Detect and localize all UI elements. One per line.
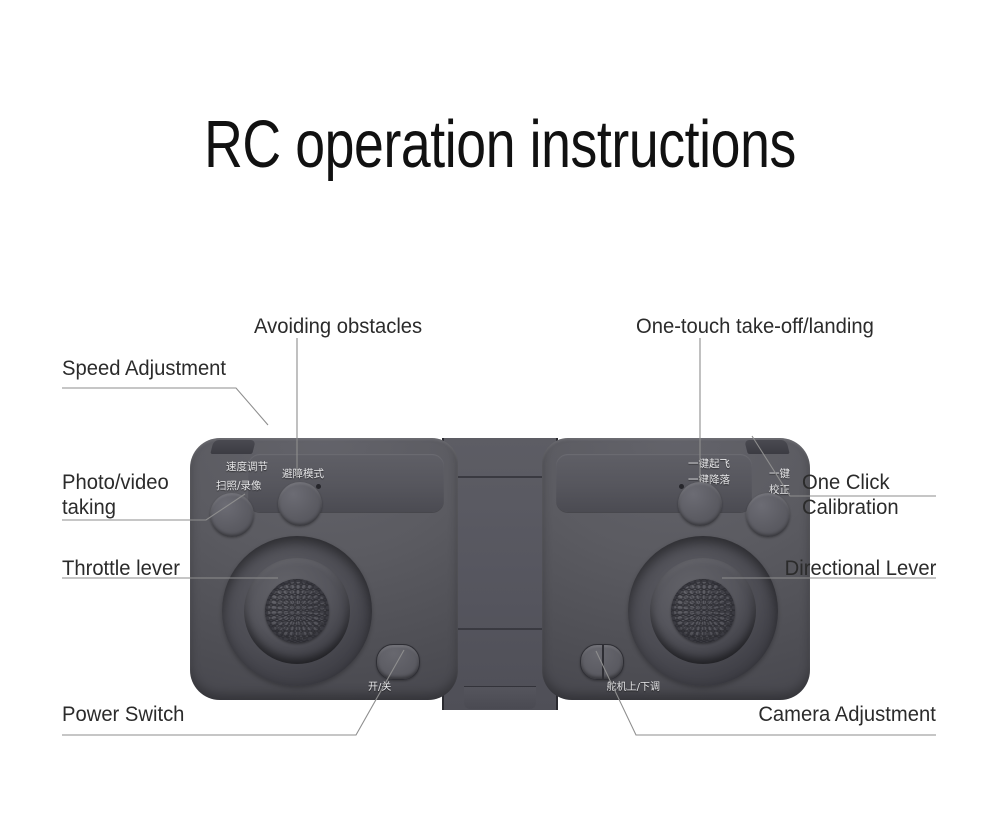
callout-one-click-calibration-line1: One Click	[802, 470, 943, 495]
callout-photo-video-taking: Photo/video taking	[62, 470, 212, 520]
callout-one-touch-take-off-landing: One-touch take-off/landing	[636, 314, 874, 339]
callout-avoiding-obstacles: Avoiding obstacles	[254, 314, 422, 339]
callout-power-switch: Power Switch	[62, 702, 184, 727]
callout-speed-adjustment: Speed Adjustment	[62, 356, 226, 381]
callout-photo-video-line2: taking	[62, 495, 212, 520]
callout-camera-adjustment: Camera Adjustment	[759, 702, 936, 727]
instruction-diagram: RC operation instructions 速度调节 扫照/录像 避障模…	[0, 0, 1000, 819]
callout-throttle-lever: Throttle lever	[62, 556, 180, 581]
callout-leader-lines	[0, 0, 1000, 819]
callout-directional-lever: Directional Lever	[784, 556, 936, 581]
callout-one-click-calibration: One Click Calibration	[802, 470, 943, 520]
callout-photo-video-line1: Photo/video	[62, 470, 212, 495]
callout-one-click-calibration-line2: Calibration	[802, 495, 943, 520]
